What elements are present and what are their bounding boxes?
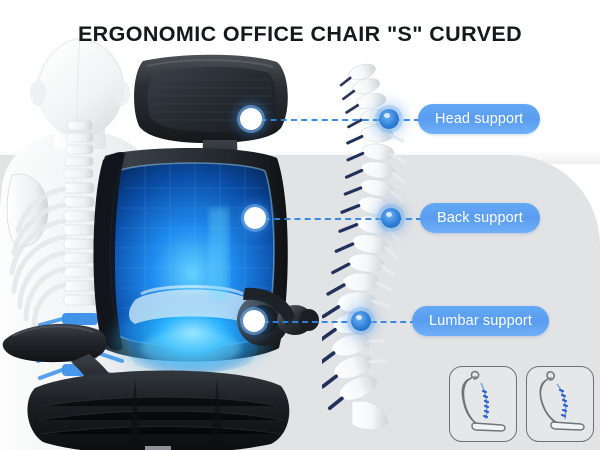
- posture-thumbnail-group: [449, 366, 594, 440]
- posture-thumb-reclined[interactable]: [526, 366, 594, 442]
- seated-posture-spine-icon: [527, 367, 594, 441]
- connector-line-lumbar-support: [253, 321, 416, 323]
- chair-marker-back-support[interactable]: [244, 207, 266, 229]
- page-title: ERGONOMIC OFFICE CHAIR "S" CURVED: [0, 22, 600, 47]
- label-head-support[interactable]: Head support: [418, 104, 540, 134]
- chair-marker-head-support[interactable]: [240, 108, 262, 130]
- office-chair-illustration: [0, 48, 335, 450]
- label-lumbar-support[interactable]: Lumbar support: [412, 306, 549, 336]
- seated-posture-spine-icon: [450, 367, 517, 441]
- label-back-support[interactable]: Back support: [420, 203, 540, 233]
- spine-marker-back-support[interactable]: [381, 208, 401, 228]
- infographic-canvas: Head support Back support Lumbar support…: [0, 0, 600, 450]
- spine-marker-lumbar-support[interactable]: [351, 311, 371, 331]
- chair-marker-lumbar-support[interactable]: [243, 310, 265, 332]
- posture-thumb-upright[interactable]: [449, 366, 517, 442]
- spine-marker-head-support[interactable]: [379, 109, 399, 129]
